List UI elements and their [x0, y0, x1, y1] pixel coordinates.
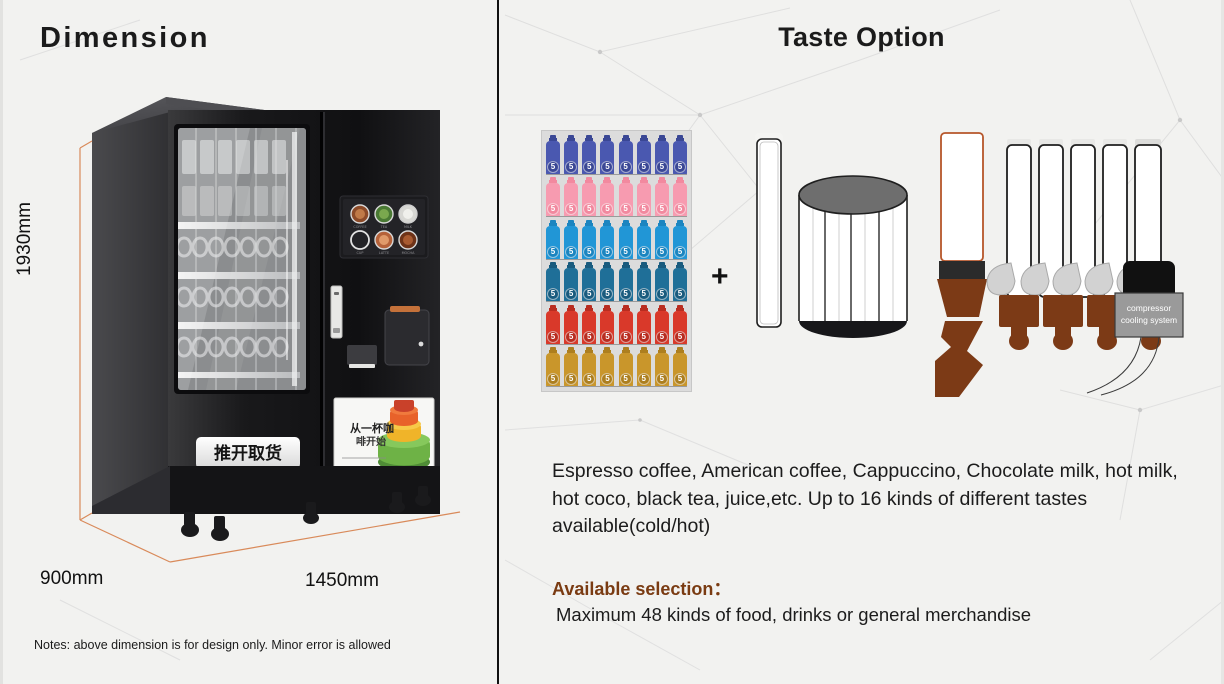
- bottle-icon: 5: [654, 305, 670, 345]
- svg-text:TEA: TEA: [380, 225, 388, 229]
- rack-row: 55555555: [545, 347, 688, 387]
- bottle-icon: 5: [672, 347, 688, 387]
- bottle-icon: 5: [581, 305, 597, 345]
- compressor-label-line1: compressor: [1127, 303, 1172, 313]
- bottle-icon: 5: [636, 347, 652, 387]
- coffee-system-schematic: compressor cooling system: [745, 125, 1205, 410]
- bottle-icon: 5: [545, 135, 561, 175]
- bottle-icon: 5: [599, 220, 615, 260]
- bottle-icon: 5: [672, 177, 688, 217]
- bottle-icon: 5: [618, 177, 634, 217]
- bottle-icon: 5: [545, 305, 561, 345]
- rack-row: 55555555: [545, 177, 688, 217]
- bottle-icon: 5: [672, 135, 688, 175]
- dimension-notes: Notes: above dimension is for design onl…: [34, 638, 391, 652]
- bottle-icon: 5: [618, 262, 634, 302]
- svg-text:COFFEE: COFFEE: [353, 225, 366, 229]
- bottle-icon: 5: [581, 347, 597, 387]
- carousel-drum: [799, 176, 907, 338]
- dimension-depth-label: 900mm: [40, 568, 103, 590]
- rack-row: 55555555: [545, 305, 688, 345]
- available-selection-body: Maximum 48 kinds of food, drinks or gene…: [556, 604, 1031, 626]
- bottle-icon: 5: [654, 135, 670, 175]
- bottle-icon: 5: [581, 262, 597, 302]
- dimension-height-label: 1930mm: [14, 202, 36, 276]
- bottle-icon: 5: [599, 262, 615, 302]
- bottle-icon: 5: [618, 305, 634, 345]
- dimension-width-label: 1450mm: [305, 570, 379, 592]
- bottle-icon: 5: [672, 305, 688, 345]
- dimension-panel: Dimension: [0, 0, 497, 684]
- svg-text:从一杯咖: 从一杯咖: [350, 421, 394, 435]
- bottle-icon: 5: [654, 220, 670, 260]
- bottle-icon: 5: [636, 220, 652, 260]
- bottle-icon: 5: [563, 262, 579, 302]
- bottle-icon: 5: [599, 305, 615, 345]
- bottle-icon: 5: [545, 262, 561, 302]
- bottle-icon: 5: [545, 220, 561, 260]
- svg-text:LATTE: LATTE: [379, 251, 389, 255]
- bottle-icon: 5: [599, 135, 615, 175]
- svg-text:MILK: MILK: [404, 225, 413, 229]
- plus-symbol: +: [711, 262, 729, 292]
- bottle-icon: 5: [545, 347, 561, 387]
- rack-row: 55555555: [545, 262, 688, 302]
- bottle-icon: 5: [618, 347, 634, 387]
- svg-text:MOCHA: MOCHA: [402, 251, 416, 255]
- bottle-icon: 5: [563, 347, 579, 387]
- available-selection-heading: Available selection：: [552, 575, 731, 601]
- bottle-icon: 5: [654, 262, 670, 302]
- bottle-rack-diagram: 5555555555555555555555555555555555555555…: [541, 130, 692, 392]
- bottle-icon: 5: [581, 220, 597, 260]
- cup-stack-tube-single: [755, 133, 783, 327]
- bottle-icon: 5: [563, 135, 579, 175]
- rack-row: 55555555: [545, 135, 688, 175]
- bottle-icon: 5: [636, 262, 652, 302]
- bottle-icon: 5: [636, 135, 652, 175]
- bottle-icon: 5: [672, 220, 688, 260]
- bottle-icon: 5: [654, 177, 670, 217]
- bottle-icon: 5: [672, 262, 688, 302]
- bottle-icon: 5: [654, 347, 670, 387]
- bottle-icon: 5: [618, 135, 634, 175]
- bottle-icon: 5: [563, 220, 579, 260]
- svg-text:CUP: CUP: [357, 251, 364, 255]
- bottle-icon: 5: [599, 177, 615, 217]
- bottle-icon: 5: [636, 177, 652, 217]
- bottle-icon: 5: [563, 305, 579, 345]
- slide-root: Dimension: [0, 0, 1224, 684]
- svg-text:啡开始: 啡开始: [356, 435, 386, 448]
- compressor-label-line2: cooling system: [1121, 315, 1177, 325]
- bottle-icon: 5: [581, 177, 597, 217]
- bottle-icon: 5: [636, 305, 652, 345]
- bottle-icon: 5: [545, 177, 561, 217]
- page-title-taste-option: Taste Option: [499, 22, 1224, 53]
- rack-row: 55555555: [545, 220, 688, 260]
- bottle-icon: 5: [581, 135, 597, 175]
- coffee-brewer-chute: [935, 133, 987, 397]
- taste-description-paragraph: Espresso coffee, American coffee, Cappuc…: [552, 458, 1200, 541]
- bottle-icon: 5: [599, 347, 615, 387]
- bottle-icon: 5: [563, 177, 579, 217]
- bottle-icon: 5: [618, 220, 634, 260]
- pickup-door-label-text: 推开取货: [214, 443, 282, 464]
